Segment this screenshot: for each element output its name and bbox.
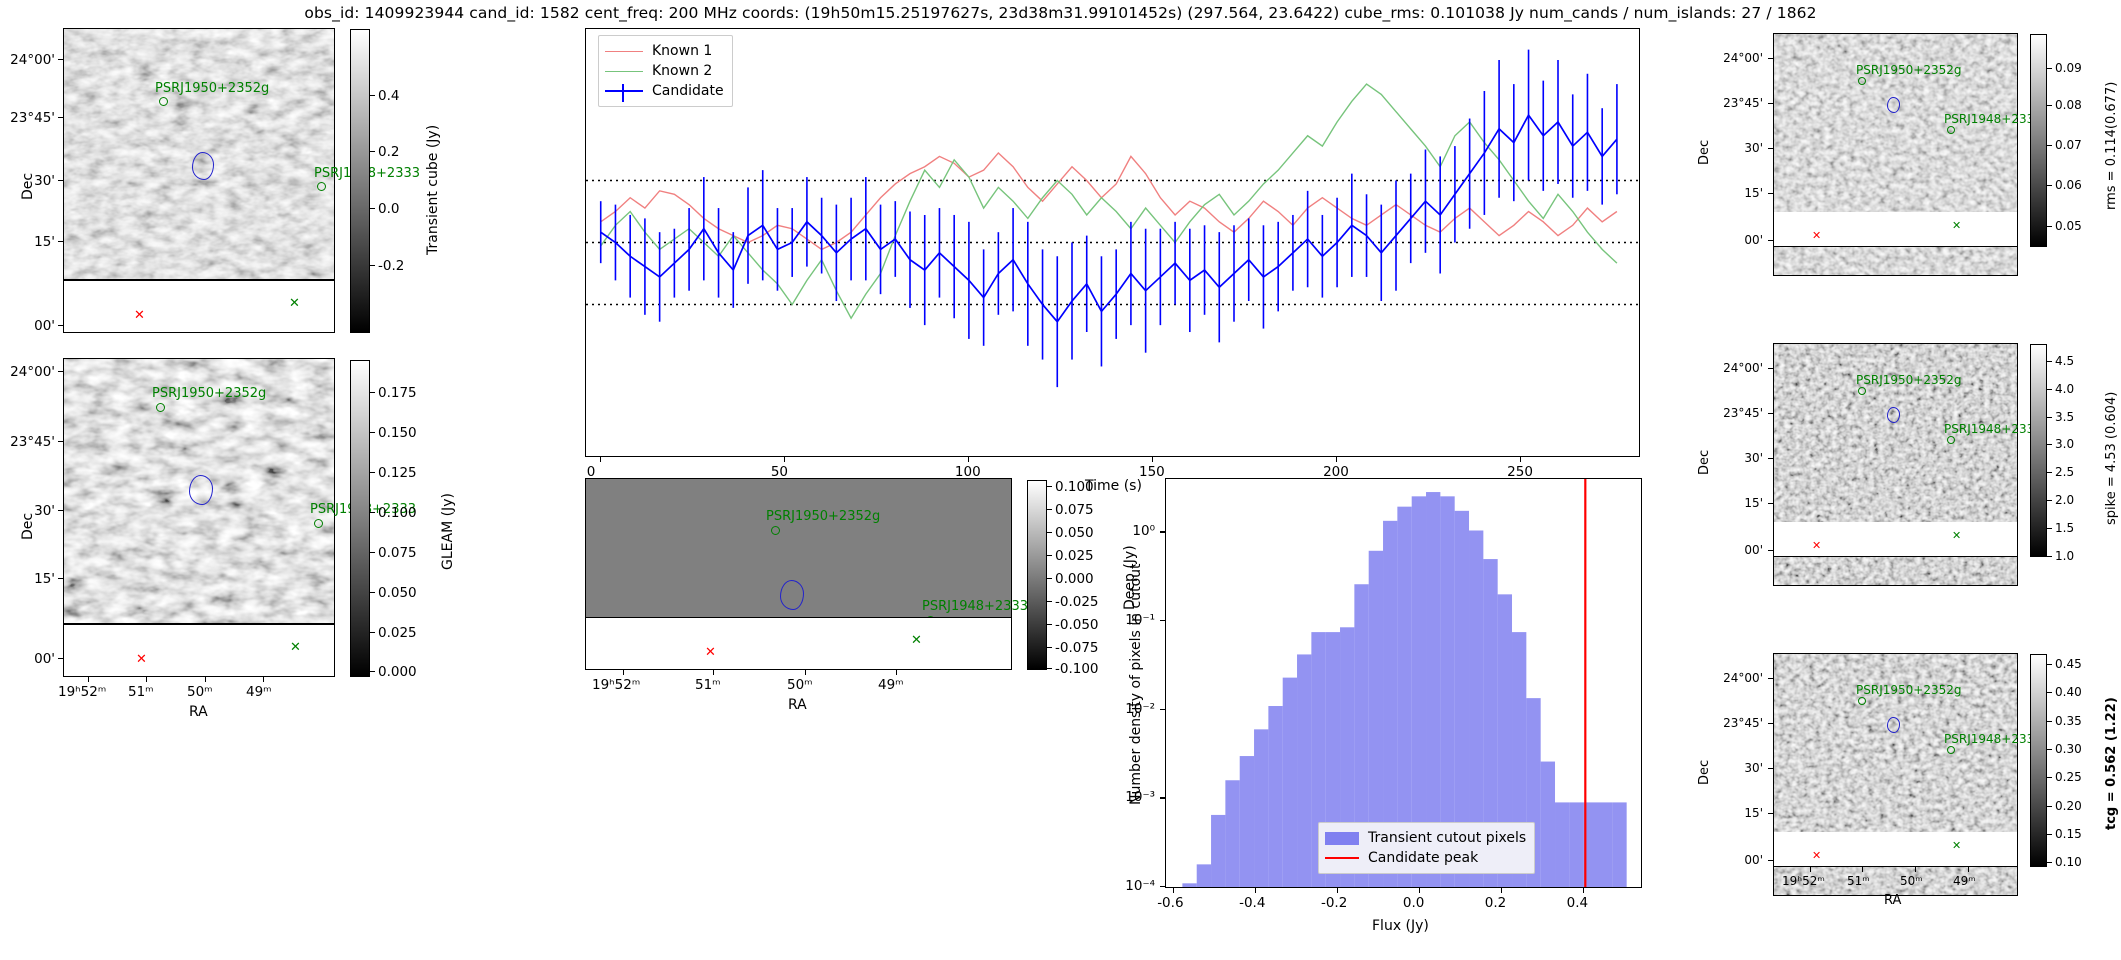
ra-tick-0: 19ʰ52ᵐ [58, 684, 106, 700]
deep-cbar-tick-8: -0.100 [1055, 661, 1099, 677]
transient-cbar-tick-2: 0.0 [378, 201, 399, 217]
spike-cbar-tick-5: 2.0 [2055, 493, 2074, 507]
source-label-psrj1950: PSRJ1950+2352g [152, 386, 266, 401]
legend-item-candidate-peak: Candidate peak [1325, 848, 1526, 868]
dec-tick-4: 00' [1700, 233, 1763, 247]
spike-cbar-tick-6: 1.5 [2055, 521, 2074, 535]
legend-line-candidate [605, 90, 643, 92]
deep-cbar-tick-5: -0.025 [1055, 594, 1099, 610]
gleam-footer-strip: ✕ ✕ [63, 624, 335, 677]
gleam-cbar-tick-5: 0.050 [378, 585, 417, 601]
ra-tick-3: 49ᵐ [246, 684, 272, 700]
histogram-legend[interactable]: Transient cutout pixels Candidate peak [1318, 822, 1535, 874]
ra-tick-1: 51ᵐ [695, 677, 721, 693]
green-x-marker: ✕ [1952, 530, 1961, 541]
transient-cube-footer-strip: ✕ ✕ [63, 280, 335, 333]
histogram-ytick: 10⁻⁴ [1090, 878, 1155, 894]
red-x-marker: ✕ [705, 646, 716, 659]
tcg-cbar-tick-3: 0.30 [2055, 742, 2082, 756]
source-label-psrj1948: PSRJ1948+2333 [1944, 112, 2042, 126]
gleam-cbar-tick-7: 0.000 [378, 664, 417, 680]
dec-tick-0: 24°00' [0, 52, 55, 68]
legend-label-transient-pixels: Transient cutout pixels [1368, 830, 1526, 846]
candidate-contour [192, 152, 214, 180]
dec-axis-label: Dec [20, 173, 36, 200]
legend-item-known2: Known 2 [605, 61, 724, 81]
histogram-xtick: 0.0 [1403, 895, 1424, 911]
dec-tick-1: 23°45' [0, 434, 55, 450]
green-x-marker: ✕ [1952, 840, 1961, 851]
legend-line-known1 [605, 51, 643, 52]
lightcurve-xtick: 150 [1139, 464, 1165, 480]
ra-tick-2: 50ᵐ [787, 677, 813, 693]
gleam-cbar-tick-0: 0.175 [378, 385, 417, 401]
transient-cbar-tick-1: 0.2 [378, 144, 399, 160]
transient-cube-colorbar[interactable] [350, 29, 370, 333]
dec-tick-3: 15' [1700, 496, 1763, 510]
lightcurve-plot [586, 29, 1639, 456]
candidate-contour [1887, 717, 1900, 733]
deep-cbar-tick-4: 0.000 [1055, 571, 1094, 587]
ra-tick-3: 49ᵐ [1953, 874, 1976, 888]
dec-tick-1: 23°45' [1700, 716, 1763, 730]
tcg-colorbar[interactable] [2030, 654, 2047, 867]
tcg-cbar-tick-5: 0.20 [2055, 799, 2082, 813]
histogram-ytick: 10⁰ [1090, 523, 1155, 539]
dec-tick-1: 23°45' [0, 110, 55, 126]
green-x-marker: ✕ [290, 641, 301, 654]
deep-colorbar[interactable] [1027, 480, 1047, 670]
red-x-marker: ✕ [136, 653, 147, 666]
transient-cbar-tick-0: 0.4 [378, 88, 399, 104]
ra-tick-2: 50ᵐ [1900, 874, 1923, 888]
dec-tick-4: 00' [1700, 853, 1763, 867]
spike-cbar-tick-7: 1.0 [2055, 549, 2074, 563]
source-marker-psrj1950 [1858, 697, 1866, 705]
dec-axis-label: Dec [1697, 760, 1712, 785]
dec-axis-label: Dec [1697, 140, 1712, 165]
transient-cube-image-axes[interactable]: PSRJ1950+2352g PSRJ1948+2333 [63, 28, 335, 280]
tcg-cbar-tick-1: 0.40 [2055, 685, 2082, 699]
gleam-cbar-tick-6: 0.025 [378, 625, 417, 641]
histogram-ytick: 10⁻³ [1090, 789, 1155, 805]
deep-cbar-tick-7: -0.075 [1055, 640, 1099, 656]
transient-cbar-tick-3: -0.2 [378, 258, 404, 274]
histogram-xaxis-label: Flux (Jy) [1372, 918, 1429, 934]
deep-footer-strip: ✕ ✕ [585, 617, 1012, 670]
histogram-xtick: 0.4 [1567, 895, 1588, 911]
spike-colorbar[interactable] [2030, 344, 2047, 557]
ra-tick-2: 50ᵐ [187, 684, 213, 700]
gleam-cbar-label: GLEAM (Jy) [440, 493, 456, 570]
rms-cbar-tick-2: 0.07 [2055, 138, 2082, 152]
source-marker-psrj1950 [1858, 77, 1866, 85]
tcg-cbar-tick-2: 0.35 [2055, 714, 2082, 728]
rms-footer-strip-2: ✕ ✕ [1773, 212, 2018, 247]
legend-line-known2 [605, 71, 643, 72]
dec-axis-label: Dec [1697, 450, 1712, 475]
figure-suptitle: obs_id: 1409923944 cand_id: 1582 cent_fr… [0, 4, 2121, 22]
ra-axis-label: RA [189, 704, 208, 720]
dec-tick-3: 15' [0, 234, 55, 250]
ra-axis-label: RA [788, 697, 807, 713]
gleam-cbar-tick-3: 0.100 [378, 505, 417, 521]
deep-cbar-tick-1: 0.075 [1055, 502, 1094, 518]
dec-tick-0: 24°00' [1700, 671, 1763, 685]
red-x-marker: ✕ [1812, 540, 1821, 551]
histogram-xtick: -0.2 [1321, 895, 1347, 911]
tcg-cbar-tick-0: 0.45 [2055, 657, 2082, 671]
source-marker-psrj1950 [156, 403, 165, 412]
dec-tick-3: 15' [1700, 806, 1763, 820]
histogram-xtick: -0.4 [1239, 895, 1265, 911]
lightcurve-axes[interactable] [585, 28, 1640, 457]
spike-footer-strip: ✕ ✕ [1773, 522, 2018, 557]
lightcurve-legend[interactable]: Known 1 Known 2 Candidate [598, 35, 733, 107]
rms-colorbar[interactable] [2030, 34, 2047, 247]
ra-axis-label: RA [1884, 893, 1901, 908]
dec-axis-label: Dec [20, 513, 36, 540]
legend-item-known1: Known 1 [605, 41, 724, 61]
source-label-psrj1948: PSRJ1948+2333 [1944, 422, 2042, 436]
gleam-cbar-tick-2: 0.125 [378, 465, 417, 481]
red-x-marker: ✕ [1812, 850, 1821, 861]
deep-image-axes-lower[interactable] [585, 478, 1012, 624]
histogram-ytick: 10⁻² [1090, 701, 1155, 717]
source-marker-psrj1950 [1858, 387, 1866, 395]
green-x-marker: ✕ [289, 297, 300, 310]
gleam-cbar-tick-1: 0.150 [378, 425, 417, 441]
source-label-psrj1950: PSRJ1950+2352g [1856, 373, 1961, 387]
dec-tick-3: 15' [0, 571, 55, 587]
spike-cbar-tick-4: 2.5 [2055, 465, 2074, 479]
ra-tick-1: 51ᵐ [128, 684, 154, 700]
deep-cbar-tick-3: 0.025 [1055, 548, 1094, 564]
source-marker-psrj1948 [1947, 436, 1955, 444]
legend-patch-transient-pixels [1325, 832, 1359, 845]
legend-label-candidate: Candidate [652, 83, 724, 99]
source-label-psrj1950: PSRJ1950+2352g [155, 81, 269, 96]
tcg-footer-strip: ✕ ✕ [1773, 832, 2018, 867]
legend-item-transient-pixels: Transient cutout pixels [1325, 828, 1526, 848]
source-label-psrj1948: PSRJ1948+2333 [1944, 732, 2042, 746]
source-label-psrj1950: PSRJ1950+2352g [1856, 63, 1961, 77]
source-label-psrj1950: PSRJ1950+2352g [1856, 683, 1961, 697]
rms-cbar-tick-1: 0.08 [2055, 98, 2082, 112]
rms-cbar-tick-3: 0.06 [2055, 178, 2082, 192]
source-marker-psrj1950 [159, 97, 168, 106]
candidate-contour [1887, 407, 1900, 423]
legend-label-known2: Known 2 [652, 63, 712, 79]
rms-cbar-tick-0: 0.09 [2055, 61, 2082, 75]
dec-tick-4: 00' [1700, 543, 1763, 557]
tcg-cbar-tick-4: 0.25 [2055, 770, 2082, 784]
transient-cbar-label: Transient cube (Jy) [425, 125, 441, 255]
legend-label-candidate-peak: Candidate peak [1368, 850, 1478, 866]
dec-tick-4: 00' [0, 651, 55, 667]
dec-tick-4: 00' [0, 318, 55, 334]
ra-tick-0: 19ʰ52ᵐ [592, 677, 640, 693]
source-marker-psrj1948 [317, 182, 326, 191]
dec-tick-1: 23°45' [1700, 96, 1763, 110]
source-marker-psrj1948 [1947, 126, 1955, 134]
spike-cbar-tick-3: 3.0 [2055, 437, 2074, 451]
deep-cbar-tick-2: 0.050 [1055, 525, 1094, 541]
green-x-marker: ✕ [1952, 220, 1961, 231]
spike-cbar-tick-1: 4.0 [2055, 382, 2074, 396]
tcg-cbar-tick-6: 0.15 [2055, 827, 2082, 841]
source-marker-psrj1948 [1947, 746, 1955, 754]
deep-cbar-tick-0: 0.100 [1055, 479, 1094, 495]
red-x-marker: ✕ [134, 309, 145, 322]
source-marker-psrj1948 [314, 519, 323, 528]
candidate-contour [189, 475, 213, 505]
dec-tick-0: 24°00' [1700, 361, 1763, 375]
dec-tick-1: 23°45' [1700, 406, 1763, 420]
gleam-image-axes[interactable]: PSRJ1950+2352g PSRJ1948+2333 [63, 358, 335, 624]
spike-cbar-label: spike = 4.53 (0.604) [2104, 392, 2119, 525]
gleam-cbar-tick-4: 0.075 [378, 545, 417, 561]
rms-cbar-tick-4: 0.05 [2055, 219, 2082, 233]
rms-cbar-label: rms = 0.114(0.677) [2104, 82, 2119, 210]
legend-label-known1: Known 1 [652, 43, 712, 59]
candidate-contour [1887, 97, 1900, 113]
tcg-cbar-tick-7: 0.10 [2055, 855, 2082, 869]
legend-item-candidate: Candidate [605, 81, 724, 101]
dec-tick-0: 24°00' [0, 364, 55, 380]
dec-tick-0: 24°00' [1700, 51, 1763, 65]
ra-tick-3: 49ᵐ [878, 677, 904, 693]
legend-line-candidate-peak [1325, 857, 1359, 859]
ra-tick-0: 19ʰ52ᵐ [1782, 874, 1825, 888]
histogram-ytick: 10⁻¹ [1090, 612, 1155, 628]
gleam-colorbar[interactable] [350, 360, 370, 677]
red-x-marker: ✕ [1812, 230, 1821, 241]
tcg-cbar-label: tcg = 0.562 (1.22) [2104, 697, 2119, 830]
ra-tick-1: 51ᵐ [1847, 874, 1870, 888]
green-x-marker: ✕ [911, 634, 922, 647]
histogram-yaxis-label: Number density of pixels in cutout [1128, 564, 1144, 806]
spike-cbar-tick-2: 3.5 [2055, 410, 2074, 424]
spike-cbar-tick-0: 4.5 [2055, 354, 2074, 368]
histogram-xtick: -0.6 [1157, 895, 1183, 911]
dec-tick-3: 15' [1700, 186, 1763, 200]
histogram-xtick: 0.2 [1485, 895, 1506, 911]
